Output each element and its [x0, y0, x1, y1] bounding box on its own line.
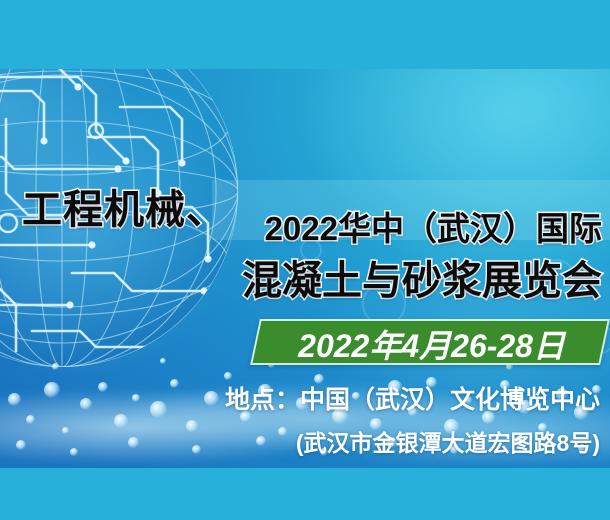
- top-color-band: [0, 0, 610, 69]
- venue-line-2: (武汉市金银潭大道宏图路8号): [296, 424, 600, 458]
- poster-content: 工程机械、 2022华中（武汉）国际 混凝土与砂浆展览会 2022年4月26-2…: [0, 69, 610, 468]
- headline-left: 工程机械、: [22, 177, 227, 235]
- exhibition-poster: 工程机械、 2022华中（武汉）国际 混凝土与砂浆展览会 2022年4月26-2…: [0, 69, 610, 468]
- date-text: 2022年4月26-28日: [257, 321, 607, 367]
- poster-canvas: 工程机械、 2022华中（武汉）国际 混凝土与砂浆展览会 2022年4月26-2…: [0, 0, 610, 520]
- title-line-2: 混凝土与砂浆展览会: [242, 248, 602, 306]
- title-line-1: 2022华中（武汉）国际: [265, 202, 602, 250]
- bottom-color-band: [0, 468, 610, 520]
- date-banner: 2022年4月26-28日: [250, 319, 610, 365]
- venue-line-1: 地点：中国（武汉）文化博览中心: [225, 380, 600, 416]
